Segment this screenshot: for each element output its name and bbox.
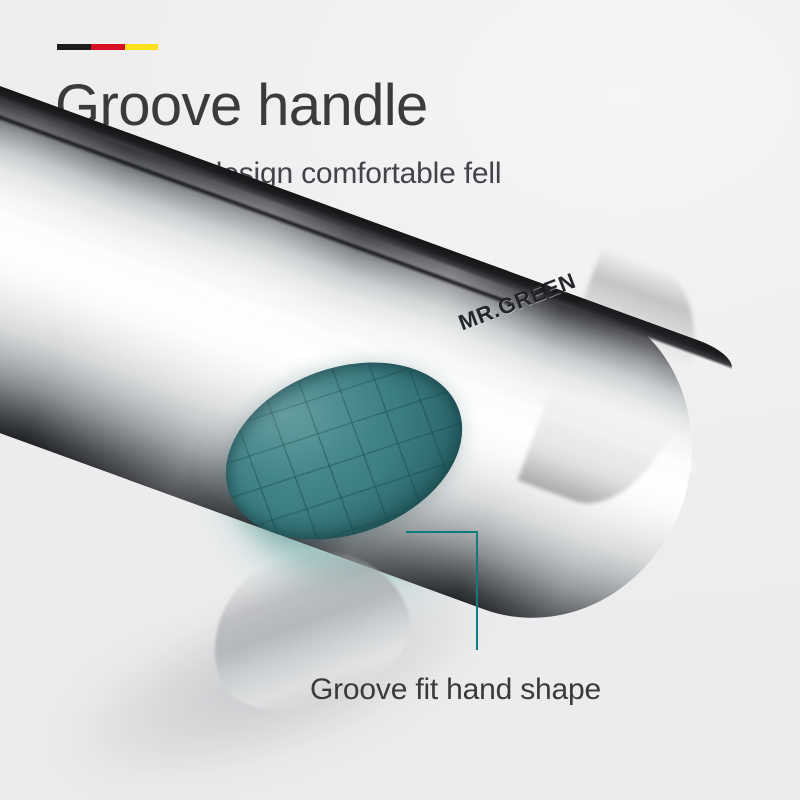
product-feature-slide: Groove handle Ergonomic design comfortab… bbox=[0, 0, 800, 800]
callout-caption: Groove fit hand shape bbox=[310, 673, 601, 707]
